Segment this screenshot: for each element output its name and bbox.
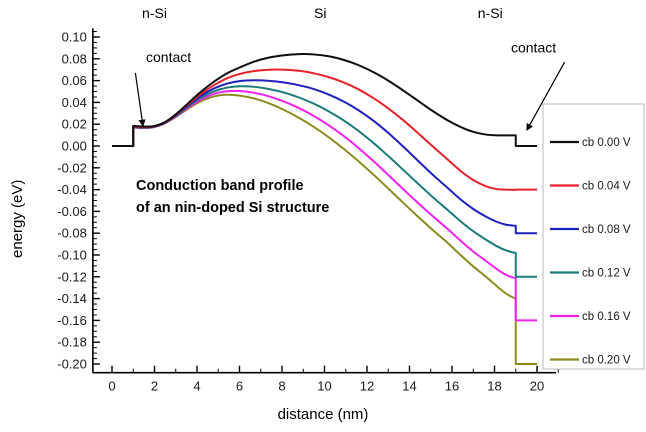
x-tick-label: 16 xyxy=(445,379,459,394)
contact-label: contact xyxy=(146,49,191,65)
legend-item-label: cb 0.08 V xyxy=(582,224,631,236)
y-tick-label: 0.02 xyxy=(62,117,87,132)
region-label: n-Si xyxy=(142,5,167,21)
x-tick-label: 8 xyxy=(278,379,285,394)
x-axis-title: distance (nm) xyxy=(278,406,369,423)
y-tick-label: 0.06 xyxy=(62,73,87,88)
y-tick-label: -0.08 xyxy=(57,226,87,241)
x-tick-label: 0 xyxy=(108,379,115,394)
y-tick-label: 0.10 xyxy=(62,30,87,45)
x-tick-label: 2 xyxy=(151,379,158,394)
chart-canvas: n-SiSin-Si 0.100.080.060.040.020.00-0.02… xyxy=(0,0,646,432)
y-tick-label: -0.02 xyxy=(57,160,87,175)
legend-item-label: cb 0.04 V xyxy=(582,181,631,193)
chart-annotation-line-2: of an nin-doped Si structure xyxy=(136,200,329,216)
x-tick-label: 18 xyxy=(487,379,501,394)
legend[interactable]: cb 0.00 Vcb 0.04 Vcb 0.08 Vcb 0.12 Vcb 0… xyxy=(543,104,644,369)
x-tick-label: 20 xyxy=(530,379,544,394)
chart-annotation-line-1: Conduction band profile xyxy=(136,178,304,194)
contact-label: contact xyxy=(511,39,556,55)
x-tick-label: 10 xyxy=(317,379,331,394)
region-label: Si xyxy=(314,5,326,21)
x-tick-label: 14 xyxy=(402,379,416,394)
y-tick-label: -0.14 xyxy=(57,291,87,306)
y-tick-label: -0.20 xyxy=(57,357,87,372)
y-tick-label: -0.18 xyxy=(57,335,87,350)
y-tick-label: -0.12 xyxy=(57,269,87,284)
legend-item-label: cb 0.12 V xyxy=(582,268,631,280)
legend-item-label: cb 0.16 V xyxy=(582,311,631,323)
y-tick-label: 0.00 xyxy=(62,139,87,154)
y-tick-label: -0.06 xyxy=(57,204,87,219)
y-tick-label: -0.16 xyxy=(57,313,87,328)
legend-item-label: cb 0.00 V xyxy=(582,137,631,149)
y-tick-label: 0.04 xyxy=(62,95,87,110)
region-label: n-Si xyxy=(478,5,503,21)
legend-item-label: cb 0.20 V xyxy=(582,355,631,367)
y-tick-label: 0.08 xyxy=(62,51,87,66)
y-tick-label: -0.10 xyxy=(57,248,87,263)
x-tick-label: 4 xyxy=(193,379,200,394)
energy-band-plot: n-SiSin-Si 0.100.080.060.040.020.00-0.02… xyxy=(0,0,646,432)
x-tick-label: 6 xyxy=(236,379,243,394)
y-axis-title: energy (eV) xyxy=(9,180,26,258)
y-tick-label: -0.04 xyxy=(57,182,87,197)
x-tick-label: 12 xyxy=(360,379,374,394)
